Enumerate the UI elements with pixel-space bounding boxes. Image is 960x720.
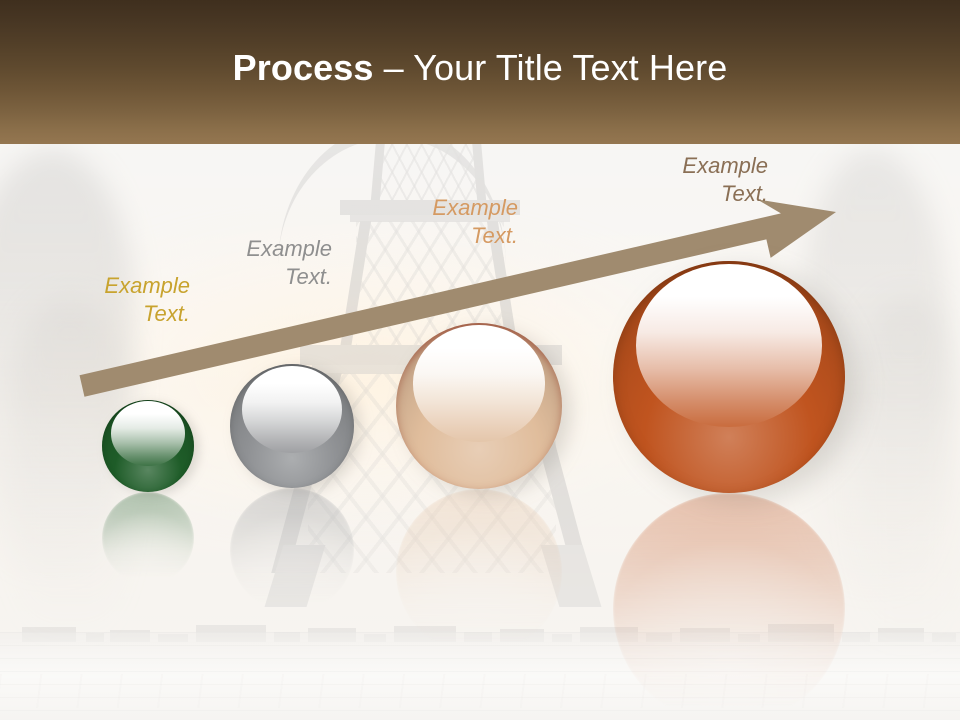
process-sphere-1[interactable] (102, 400, 194, 492)
sphere-gloss-highlight (636, 264, 822, 426)
page-title-bold: Process (233, 47, 374, 88)
sphere-gloss-highlight (242, 366, 341, 453)
page-title: Process – Your Title Text Here (0, 48, 960, 88)
sphere-reflection (396, 489, 562, 642)
step-label-2[interactable]: Example Text. (182, 235, 332, 291)
sphere-gloss-highlight (111, 401, 185, 465)
process-sphere-4[interactable] (613, 261, 845, 493)
sphere-reflection (230, 488, 354, 602)
slide-canvas: Example Text.Example Text.Example Text.E… (0, 0, 960, 720)
sphere-reflection-body (613, 493, 845, 706)
sphere-reflection (102, 492, 194, 577)
step-label-3[interactable]: Example Text. (368, 194, 518, 250)
step-label-1[interactable]: Example Text. (40, 272, 190, 328)
sphere-gloss-highlight (413, 325, 546, 441)
process-sphere-2[interactable] (230, 364, 354, 488)
sphere-reflection-body (396, 489, 562, 642)
page-title-rest: – Your Title Text Here (373, 47, 727, 88)
sphere-reflection (613, 493, 845, 706)
sphere-reflection-body (102, 492, 194, 577)
title-bar: Process – Your Title Text Here (0, 0, 960, 144)
sphere-reflection-body (230, 488, 354, 602)
step-label-4[interactable]: Example Text. (618, 152, 768, 208)
process-sphere-3[interactable] (396, 323, 562, 489)
